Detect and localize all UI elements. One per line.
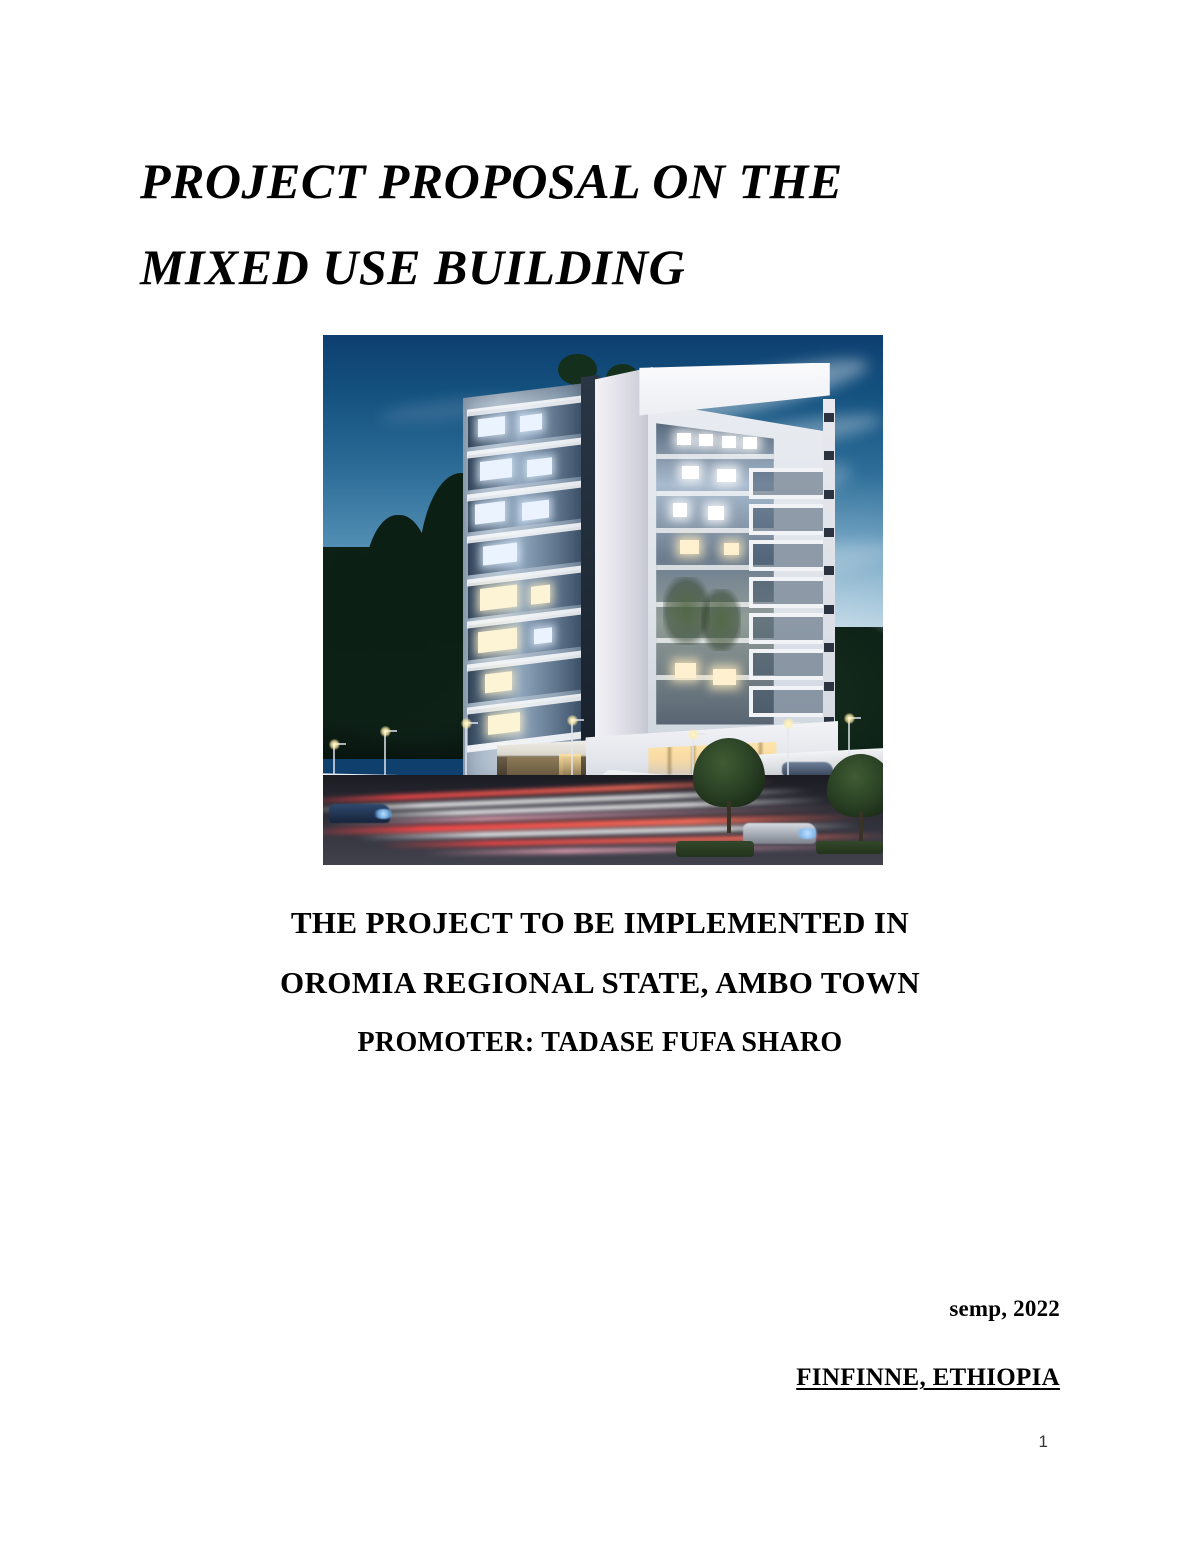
page-title: PROJECT PROPOSAL ON THE MIXED USE BUILDI… <box>140 138 1040 310</box>
building-rendering-figure <box>323 335 883 865</box>
title-line-2: MIXED USE BUILDING <box>140 224 1040 310</box>
road <box>323 775 883 865</box>
subtitle-line-2: OROMIA REGIONAL STATE, AMBO TOWN <box>0 953 1200 1013</box>
promoter-line: PROMOTER: TADASE FUFA SHARO <box>0 1027 1200 1059</box>
right-wing-parapet <box>639 363 829 416</box>
hedge <box>816 841 883 855</box>
footer-place: FINFINNE, ETHIOPIA <box>796 1364 1060 1392</box>
page-number: 1 <box>1039 1432 1048 1452</box>
footer-date: semp, 2022 <box>949 1296 1060 1322</box>
subtitle-line-1: THE PROJECT TO BE IMPLEMENTED IN <box>0 893 1200 953</box>
subtitle-block: THE PROJECT TO BE IMPLEMENTED IN OROMIA … <box>0 893 1200 1014</box>
right-edge-strip <box>823 399 835 749</box>
building-rendering-image <box>323 335 883 865</box>
moving-car <box>329 804 391 823</box>
balcony-louvers <box>749 468 830 728</box>
hedge <box>676 841 754 857</box>
document-page: PROJECT PROPOSAL ON THE MIXED USE BUILDI… <box>0 0 1200 1553</box>
title-line-1: PROJECT PROPOSAL ON THE <box>140 138 1040 224</box>
central-white-fin <box>595 367 654 791</box>
moving-car <box>743 823 816 844</box>
